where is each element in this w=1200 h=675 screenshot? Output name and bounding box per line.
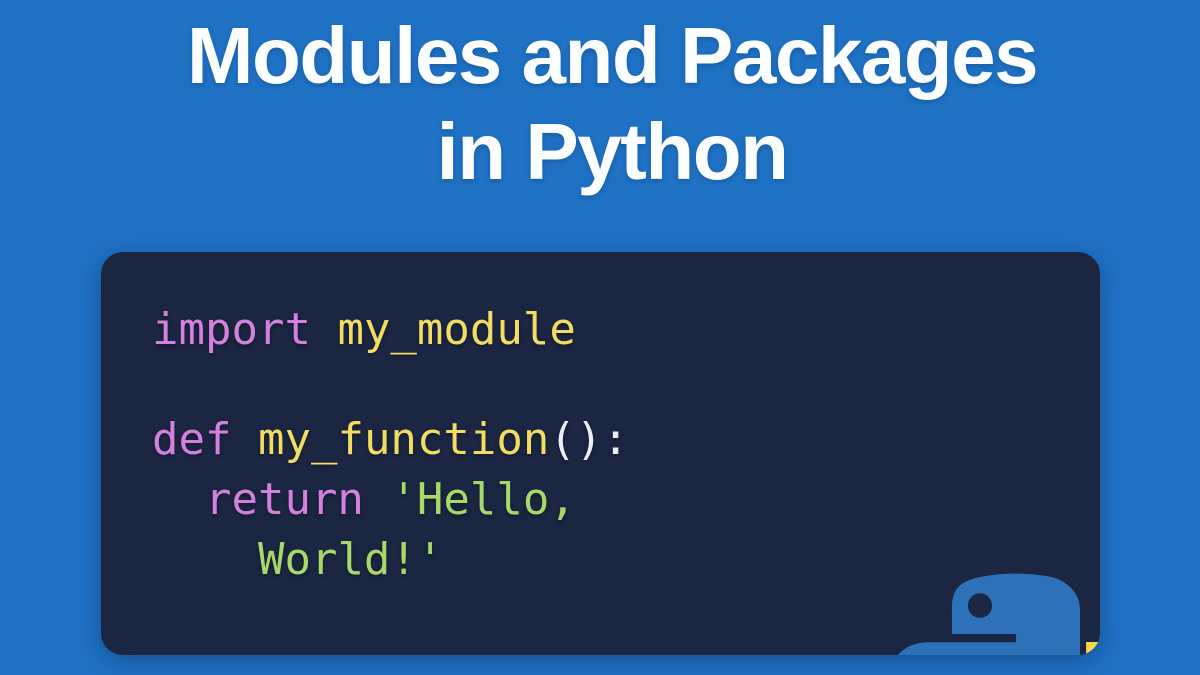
python-logo-icon bbox=[874, 560, 1100, 655]
title-line-1: Modules and Packages bbox=[24, 8, 1200, 104]
code-token-string: World!' bbox=[258, 534, 443, 585]
code-token-name: my_function bbox=[258, 414, 549, 465]
code-token-plain bbox=[231, 414, 258, 465]
code-card: import my_module def my_function(): retu… bbox=[101, 252, 1100, 655]
code-line: def my_function(): bbox=[152, 410, 629, 470]
code-token-plain bbox=[364, 474, 391, 525]
code-line bbox=[152, 360, 629, 410]
code-token-plain bbox=[311, 304, 338, 355]
code-token-keyword: import bbox=[152, 304, 311, 355]
code-token-keyword: def bbox=[152, 414, 231, 465]
code-token-string: 'Hello, bbox=[390, 474, 575, 525]
code-line: return 'Hello, bbox=[152, 470, 629, 530]
code-block: import my_module def my_function(): retu… bbox=[152, 300, 629, 590]
code-line: World!' bbox=[152, 530, 629, 590]
code-token-keyword: return bbox=[205, 474, 364, 525]
title-line-2: in Python bbox=[24, 104, 1200, 200]
code-line: import my_module bbox=[152, 300, 629, 360]
code-token-punctuation: (): bbox=[549, 414, 628, 465]
page-title: Modules and Packages in Python bbox=[0, 8, 1200, 200]
slide-canvas: Modules and Packages in Python import my… bbox=[0, 0, 1200, 675]
code-token-name: my_module bbox=[337, 304, 575, 355]
